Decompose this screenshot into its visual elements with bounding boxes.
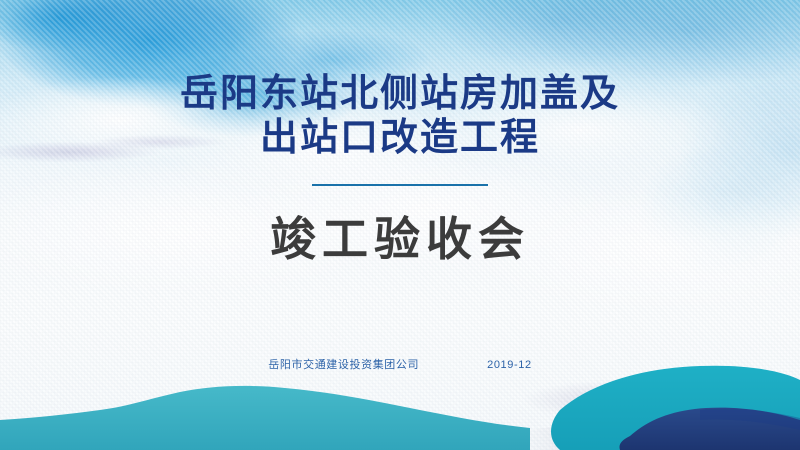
- footer-date: 2019-12: [487, 359, 532, 371]
- slide-content: 岳阳东站北侧站房加盖及 出站口改造工程 竣工验收会: [0, 0, 800, 450]
- page-title: 岳阳东站北侧站房加盖及 出站口改造工程: [0, 72, 800, 160]
- footer-organization: 岳阳市交通建设投资集团公司: [268, 356, 419, 372]
- title-line-2: 出站口改造工程: [0, 116, 800, 160]
- title-divider: [312, 184, 488, 186]
- slide-subtitle: 竣工验收会: [270, 212, 530, 266]
- slide-footer: 岳阳市交通建设投资集团公司 2019-12: [0, 356, 800, 372]
- title-line-1: 岳阳东站北侧站房加盖及: [0, 72, 800, 116]
- presentation-slide: 岳阳东站北侧站房加盖及 出站口改造工程 竣工验收会 岳阳市交通建设投资集团公司 …: [0, 0, 800, 450]
